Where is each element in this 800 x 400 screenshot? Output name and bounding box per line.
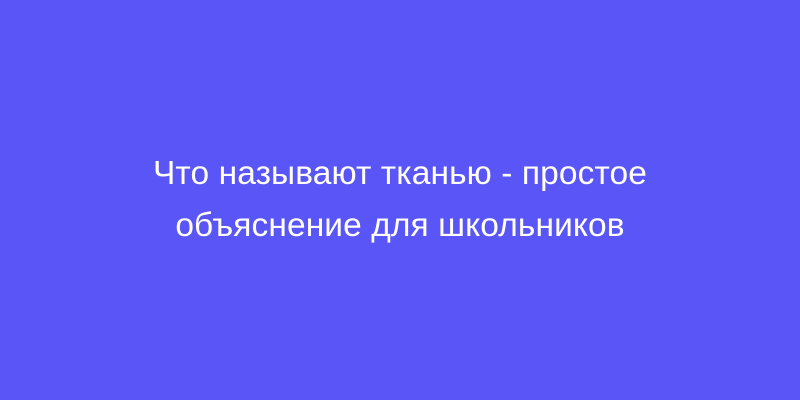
banner-card: Что называют тканью - простое объяснение… <box>0 0 800 400</box>
page-title: Что называют тканью - простое объяснение… <box>90 148 710 252</box>
title-line-1: Что называют тканью - простое <box>100 148 700 200</box>
title-line-2: объяснение для школьников <box>100 200 700 252</box>
